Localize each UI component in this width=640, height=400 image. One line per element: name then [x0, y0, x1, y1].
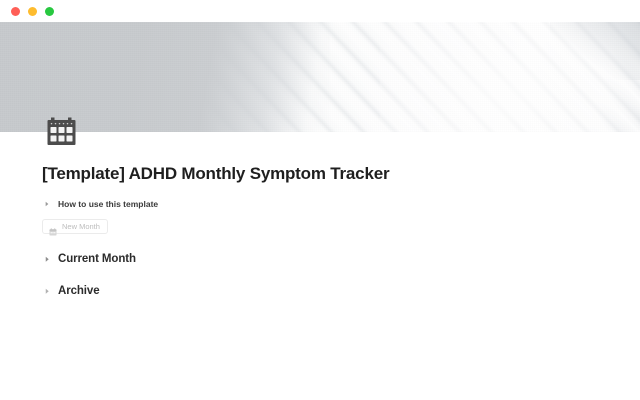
- toggle-archive[interactable]: Archive: [42, 284, 602, 298]
- chevron-right-icon[interactable]: [42, 288, 52, 295]
- cover-grain-texture: [0, 22, 640, 132]
- new-month-row: New Month: [42, 219, 602, 234]
- toggle-current-month[interactable]: Current Month: [42, 252, 602, 266]
- maximize-window-button[interactable]: [45, 7, 54, 16]
- new-month-button[interactable]: New Month: [42, 219, 108, 234]
- toggle-archive-label: Archive: [58, 284, 100, 299]
- toggle-how-to-use[interactable]: How to use this template: [42, 197, 602, 211]
- traffic-light-group: [11, 7, 54, 16]
- page-title[interactable]: [Template] ADHD Monthly Symptom Tracker: [42, 163, 602, 184]
- chevron-right-icon[interactable]: [42, 201, 52, 207]
- close-window-button[interactable]: [11, 7, 20, 16]
- window-titlebar: [0, 0, 640, 22]
- page-content: [Template] ADHD Monthly Symptom Tracker …: [42, 163, 602, 298]
- minimize-window-button[interactable]: [28, 7, 37, 16]
- new-month-button-label: New Month: [62, 222, 100, 231]
- app-window: [Template] ADHD Monthly Symptom Tracker …: [0, 0, 640, 400]
- toggle-current-month-label: Current Month: [58, 252, 136, 267]
- calendar-icon: [49, 223, 57, 231]
- page-cover-image[interactable]: [0, 22, 640, 132]
- calendar-icon[interactable]: [46, 116, 77, 147]
- chevron-right-icon[interactable]: [42, 256, 52, 263]
- toggle-how-to-use-label: How to use this template: [58, 198, 158, 210]
